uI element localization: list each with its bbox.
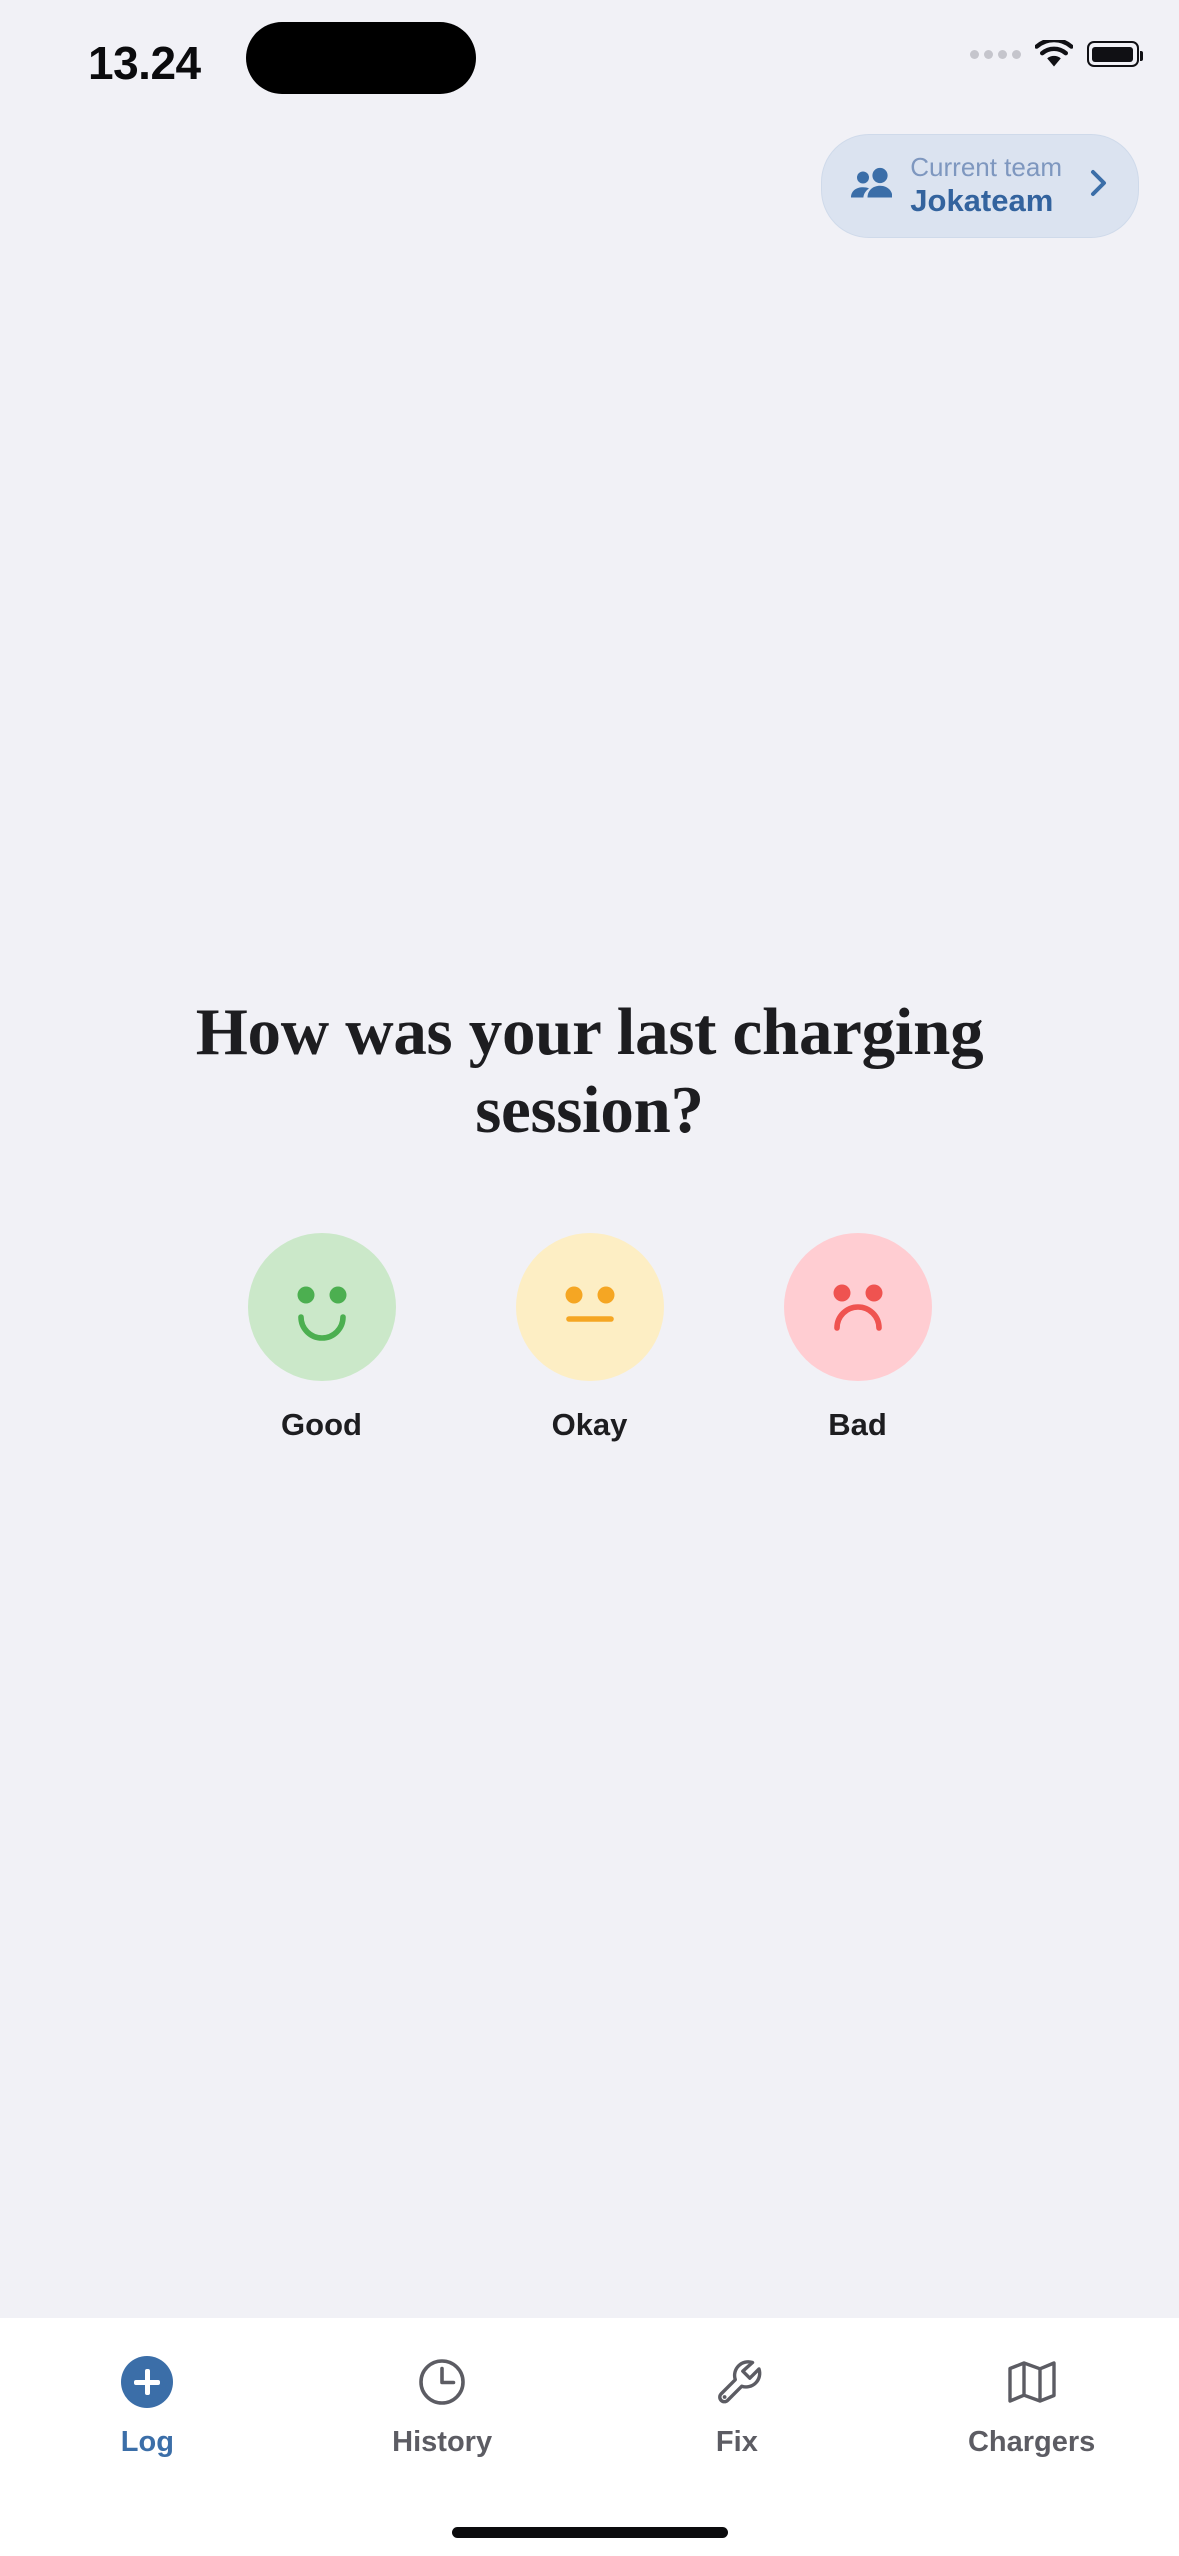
- tab-bar: Log History Fix: [0, 2318, 1179, 2556]
- team-selector-label: Current team: [910, 153, 1062, 182]
- status-indicators: [970, 36, 1139, 72]
- home-indicator: [0, 2527, 1179, 2556]
- team-selector-row: Current team Jokateam: [0, 118, 1179, 238]
- chevron-right-icon: [1080, 166, 1112, 205]
- smiley-sad-icon[interactable]: [784, 1233, 932, 1381]
- tab-label-chargers: Chargers: [968, 2426, 1095, 2459]
- team-texts: Current team Jokateam: [910, 153, 1062, 219]
- signal-dots-icon: [970, 50, 1021, 59]
- smiley-happy-icon[interactable]: [248, 1233, 396, 1381]
- tab-label-fix: Fix: [716, 2426, 758, 2459]
- mood-option-okay[interactable]: Okay: [487, 1233, 693, 1443]
- mood-option-bad[interactable]: Bad: [755, 1233, 961, 1443]
- tab-log[interactable]: Log: [0, 2344, 295, 2527]
- people-icon: [850, 166, 892, 205]
- status-time: 13.24: [88, 36, 201, 90]
- wifi-icon: [1035, 40, 1073, 68]
- mood-option-good[interactable]: Good: [219, 1233, 425, 1443]
- current-team-selector[interactable]: Current team Jokateam: [821, 134, 1139, 238]
- dynamic-island: [246, 22, 476, 94]
- mood-options: Good Okay: [219, 1233, 961, 1443]
- status-bar: 13.24: [0, 0, 1179, 118]
- tab-history[interactable]: History: [295, 2344, 590, 2527]
- tab-chargers[interactable]: Chargers: [884, 2344, 1179, 2527]
- plus-circle-icon: [119, 2354, 175, 2410]
- main-content: How was your last charging session? Good: [0, 238, 1179, 2318]
- tab-label-history: History: [392, 2426, 492, 2459]
- team-selector-name: Jokateam: [910, 184, 1062, 219]
- mood-label-bad: Bad: [828, 1407, 887, 1443]
- app-screen: 13.24: [0, 0, 1179, 2556]
- page-title: How was your last charging session?: [160, 993, 1020, 1150]
- battery-icon: [1087, 41, 1139, 67]
- wrench-icon: [709, 2354, 765, 2410]
- map-icon: [1004, 2354, 1060, 2410]
- tab-list: Log History Fix: [0, 2344, 1179, 2527]
- mood-label-okay: Okay: [552, 1407, 628, 1443]
- tab-label-log: Log: [121, 2426, 174, 2459]
- smiley-neutral-icon[interactable]: [516, 1233, 664, 1381]
- mood-label-good: Good: [281, 1407, 362, 1443]
- tab-fix[interactable]: Fix: [590, 2344, 885, 2527]
- clock-icon: [414, 2354, 470, 2410]
